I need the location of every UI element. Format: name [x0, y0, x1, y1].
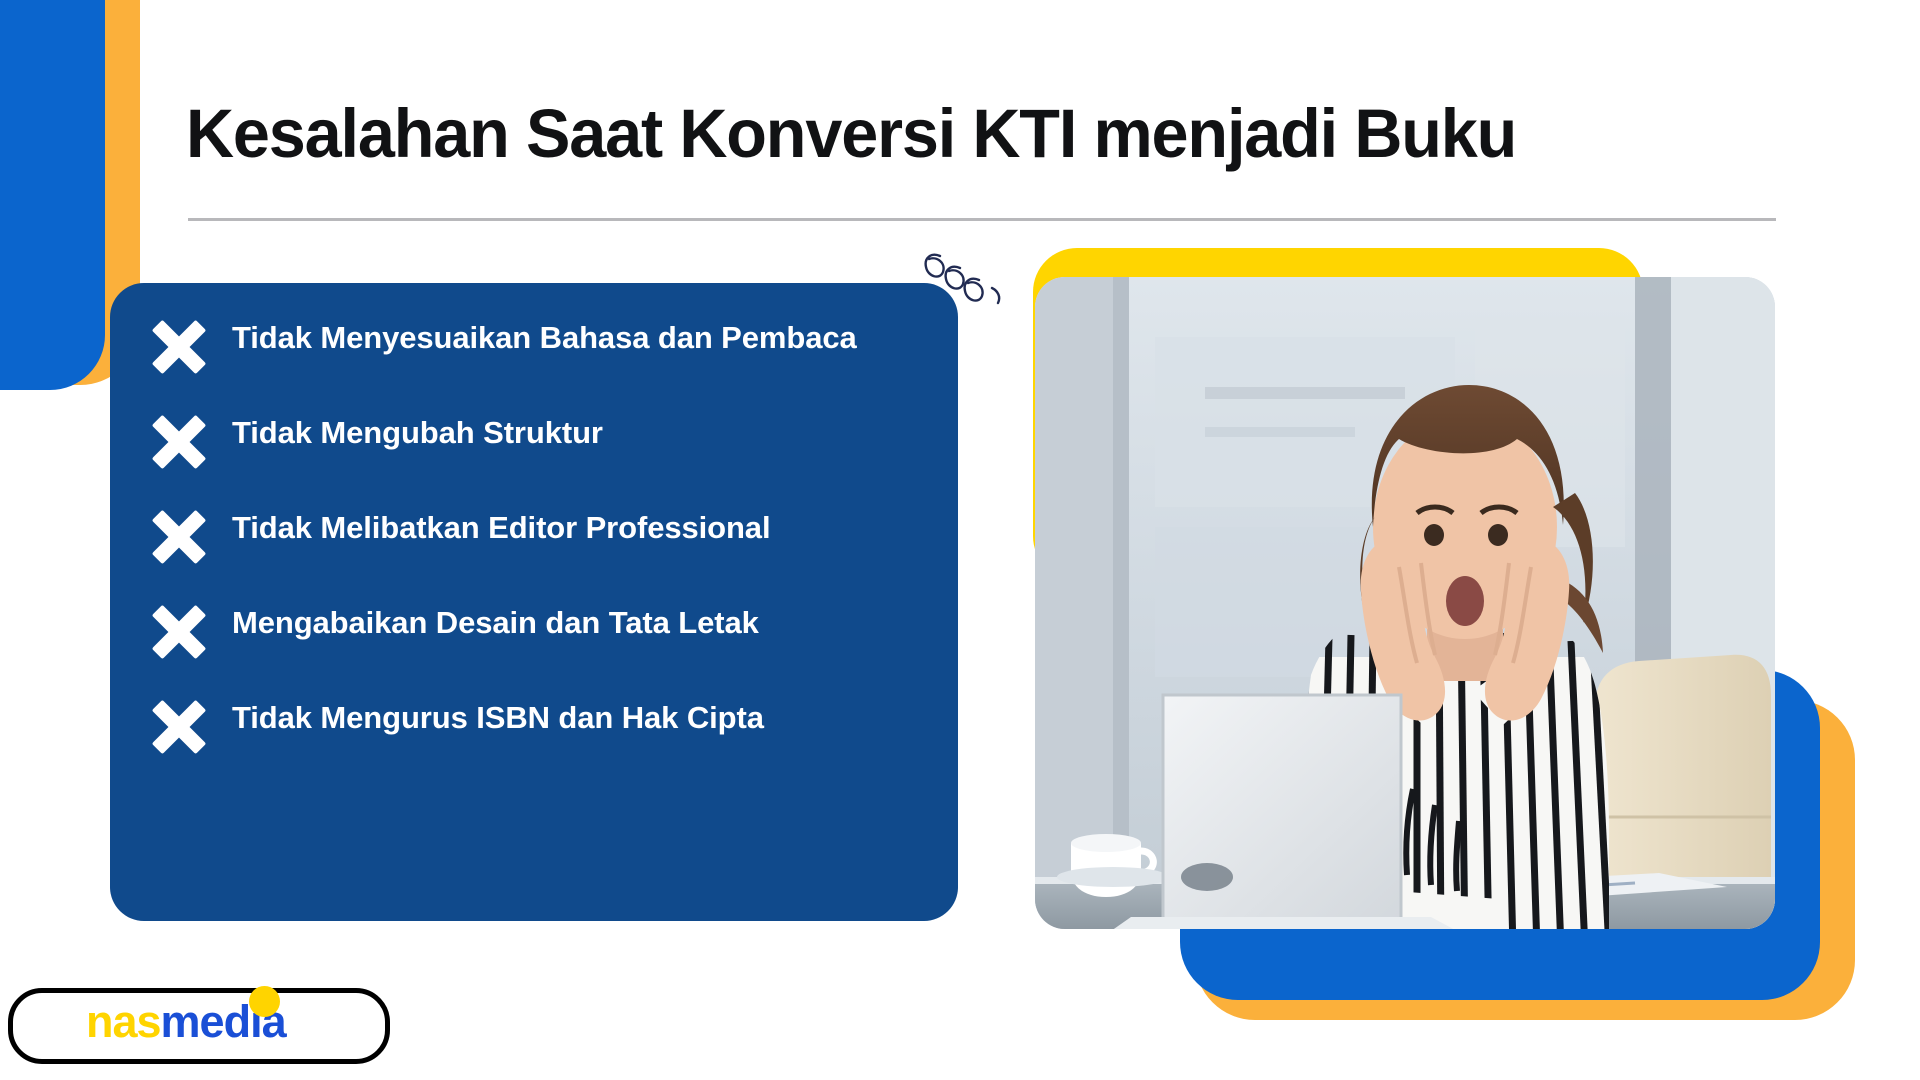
x-cross-icon: [148, 506, 210, 568]
x-cross-icon: [148, 696, 210, 758]
spiral-doodle-icon: [920, 244, 1010, 314]
hero-photo: [1035, 277, 1775, 929]
title-divider: [188, 218, 1776, 221]
photo-illustration: [1035, 277, 1775, 929]
infographic-canvas: Kesalahan Saat Konversi KTI menjadi Buku…: [0, 0, 1920, 1080]
list-item-label: Tidak Melibatkan Editor Professional: [232, 502, 770, 549]
logo-text-nas: nas: [86, 996, 161, 1047]
list-item: Tidak Mengubah Struktur: [148, 407, 938, 481]
list-item-label: Mengabaikan Desain dan Tata Letak: [232, 597, 759, 644]
list-item: Tidak Menyesuaikan Bahasa dan Pembaca: [148, 312, 938, 386]
left-blue-corner-shape: [0, 0, 105, 390]
x-cross-icon: [148, 411, 210, 473]
list-item: Mengabaikan Desain dan Tata Letak: [148, 597, 938, 671]
list-item-label: Tidak Mengubah Struktur: [232, 407, 603, 454]
mistakes-list: Tidak Menyesuaikan Bahasa dan Pembaca Ti…: [148, 312, 938, 787]
page-title: Kesalahan Saat Konversi KTI menjadi Buku: [186, 98, 1730, 170]
x-cross-icon: [148, 601, 210, 663]
yellow-dot-icon: [249, 986, 280, 1017]
list-item-label: Tidak Mengurus ISBN dan Hak Cipta: [232, 692, 764, 739]
list-item: Tidak Mengurus ISBN dan Hak Cipta: [148, 692, 938, 766]
list-item: Tidak Melibatkan Editor Professional: [148, 502, 938, 576]
list-item-label: Tidak Menyesuaikan Bahasa dan Pembaca: [232, 312, 857, 359]
x-cross-icon: [148, 316, 210, 378]
